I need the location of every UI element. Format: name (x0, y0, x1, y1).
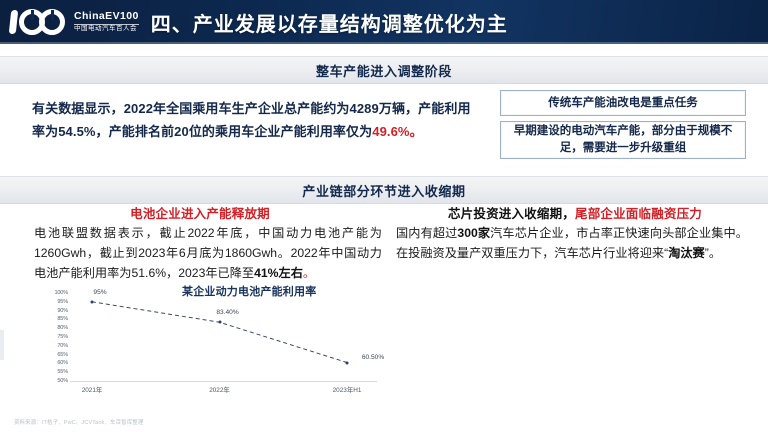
chart-battery-xtick: 2023年H1 (333, 385, 362, 394)
column-battery-body: 电池联盟数据表示，截止2022年底，中国动力电池产能为1260Gwh，截止到20… (14, 224, 386, 283)
chart-battery-xtick: 2022年 (209, 385, 230, 394)
column-chip-heading: 芯片投资进入收缩期，尾部企业面临融资压力 (390, 203, 760, 222)
left-edge-notch (0, 330, 4, 360)
chart-battery-point (218, 321, 221, 324)
chart-battery-y-axis: 100%95%90%85%80%75%70%65%60%55%50% (32, 293, 70, 381)
chart-battery-ytick: 100% (54, 290, 68, 296)
slide-header: ChinaEV100 中国电动汽车百人会 四、产业发展以存量结构调整优化为主 (0, 0, 768, 44)
chart-battery-line-svg (72, 293, 377, 381)
chart-battery-x-labels: 2021年2022年2023年H1 (70, 385, 377, 399)
chart-battery-point-label: 60.50% (362, 354, 384, 361)
column-chip-body-part3: 。 (709, 246, 721, 260)
section-two-title: 产业链部分环节进入收缩期 (302, 181, 465, 200)
section-one-body: 有关数据显示，2022年全国乘用车生产企业总产能约为4289万辆，产能利用率为5… (0, 88, 768, 172)
column-battery-body-prefix: 电池联盟数据表示，截止2022年底，中国动力电池产能为1260Gwh，截止到20… (34, 226, 382, 280)
column-chip-body-bold2: 淘汰赛 (668, 246, 705, 260)
column-battery-heading: 电池企业进入产能释放期 (14, 203, 386, 222)
section-one-title: 整车产能进入调整阶段 (316, 61, 452, 80)
column-chip-body: 国内有超过300家汽车芯片企业，市占率正快速向头部企业集中。在投融资及量产双重压… (390, 224, 760, 264)
section-one-paragraph: 有关数据显示，2022年全国乘用车生产企业总产能约为4289万辆，产能利用率为5… (32, 98, 480, 144)
chart-battery-baseline (70, 381, 377, 382)
ev100-logo-icon (8, 7, 70, 37)
section-one-callouts: 传统车产能油改电是重点任务 早期建设的电动汽车产能，部分由于规模不足，需要进一步… (500, 90, 746, 164)
column-battery-body-suffix: 。 (303, 266, 315, 280)
brand-logo: ChinaEV100 中国电动汽车百人会 (8, 7, 139, 37)
chart-battery-ytick: 95% (57, 299, 68, 305)
section-two-columns: 电池企业进入产能释放期 电池联盟数据表示，截止2022年底，中国动力电池产能为1… (0, 203, 768, 411)
callout-box-1: 传统车产能油改电是重点任务 (500, 90, 746, 116)
chart-battery-ytick: 85% (57, 316, 68, 322)
chart-battery-point-label: 95% (93, 289, 106, 296)
chart-battery-xtick: 2021年 (82, 385, 103, 394)
chart-battery-plot: 95%83.40%60.50% (72, 293, 377, 381)
section-one-paragraph-suffix: 。 (410, 124, 423, 139)
page-title: 四、产业发展以存量结构调整优化为主 (151, 8, 508, 37)
chart-battery-ytick: 90% (57, 308, 68, 314)
brand-logo-chinese: 中国电动汽车百人会 (74, 26, 139, 33)
chart-battery-ytick: 75% (57, 334, 68, 340)
slide-root: ChinaEV100 中国电动汽车百人会 四、产业发展以存量结构调整优化为主 整… (0, 0, 768, 432)
chart-battery-ytick: 55% (57, 369, 68, 375)
chart-battery-ytick: 80% (57, 325, 68, 331)
column-battery: 电池企业进入产能释放期 电池联盟数据表示，截止2022年底，中国动力电池产能为1… (14, 203, 386, 411)
brand-logo-text: ChinaEV100 中国电动汽车百人会 (74, 11, 139, 33)
column-chip-heading-black: 芯片投资进入收缩期， (448, 207, 575, 221)
column-chip-body-part1: 国内有超过 (396, 226, 457, 240)
section-banner-two: 产业链部分环节进入收缩期 (0, 176, 768, 204)
section-banner-one: 整车产能进入调整阶段 (0, 56, 768, 84)
chart-battery-ytick: 70% (57, 343, 68, 349)
chart-battery-ytick: 60% (57, 360, 68, 366)
section-one-paragraph-highlight: 49.6% (372, 124, 409, 139)
chart-battery-utilization: 某企业动力电池产能利用率 100%95%90%85%80%75%70%65%60… (32, 281, 388, 409)
brand-logo-english: ChinaEV100 (74, 11, 139, 22)
column-chip: 芯片投资进入收缩期，尾部企业面临融资压力 国内有超过300家汽车芯片企业，市占率… (390, 203, 760, 411)
chart-battery-point-label: 83.40% (216, 309, 238, 316)
chart-battery-point (91, 300, 94, 303)
chart-battery-ytick: 65% (57, 352, 68, 358)
chart-battery-ytick: 50% (57, 378, 68, 384)
column-battery-body-highlight: 41%左右 (254, 266, 303, 280)
column-chip-body-bold1: 300家 (457, 226, 490, 240)
callout-box-2: 早期建设的电动汽车产能，部分由于规模不足，需要进一步升级重组 (500, 121, 746, 159)
source-footnote: 资料来源：IT桔子、PwC、JCVTank、车百智库整理 (14, 418, 144, 426)
chart-battery-point (346, 361, 349, 364)
column-chip-heading-red: 尾部企业面临融资压力 (575, 207, 702, 221)
